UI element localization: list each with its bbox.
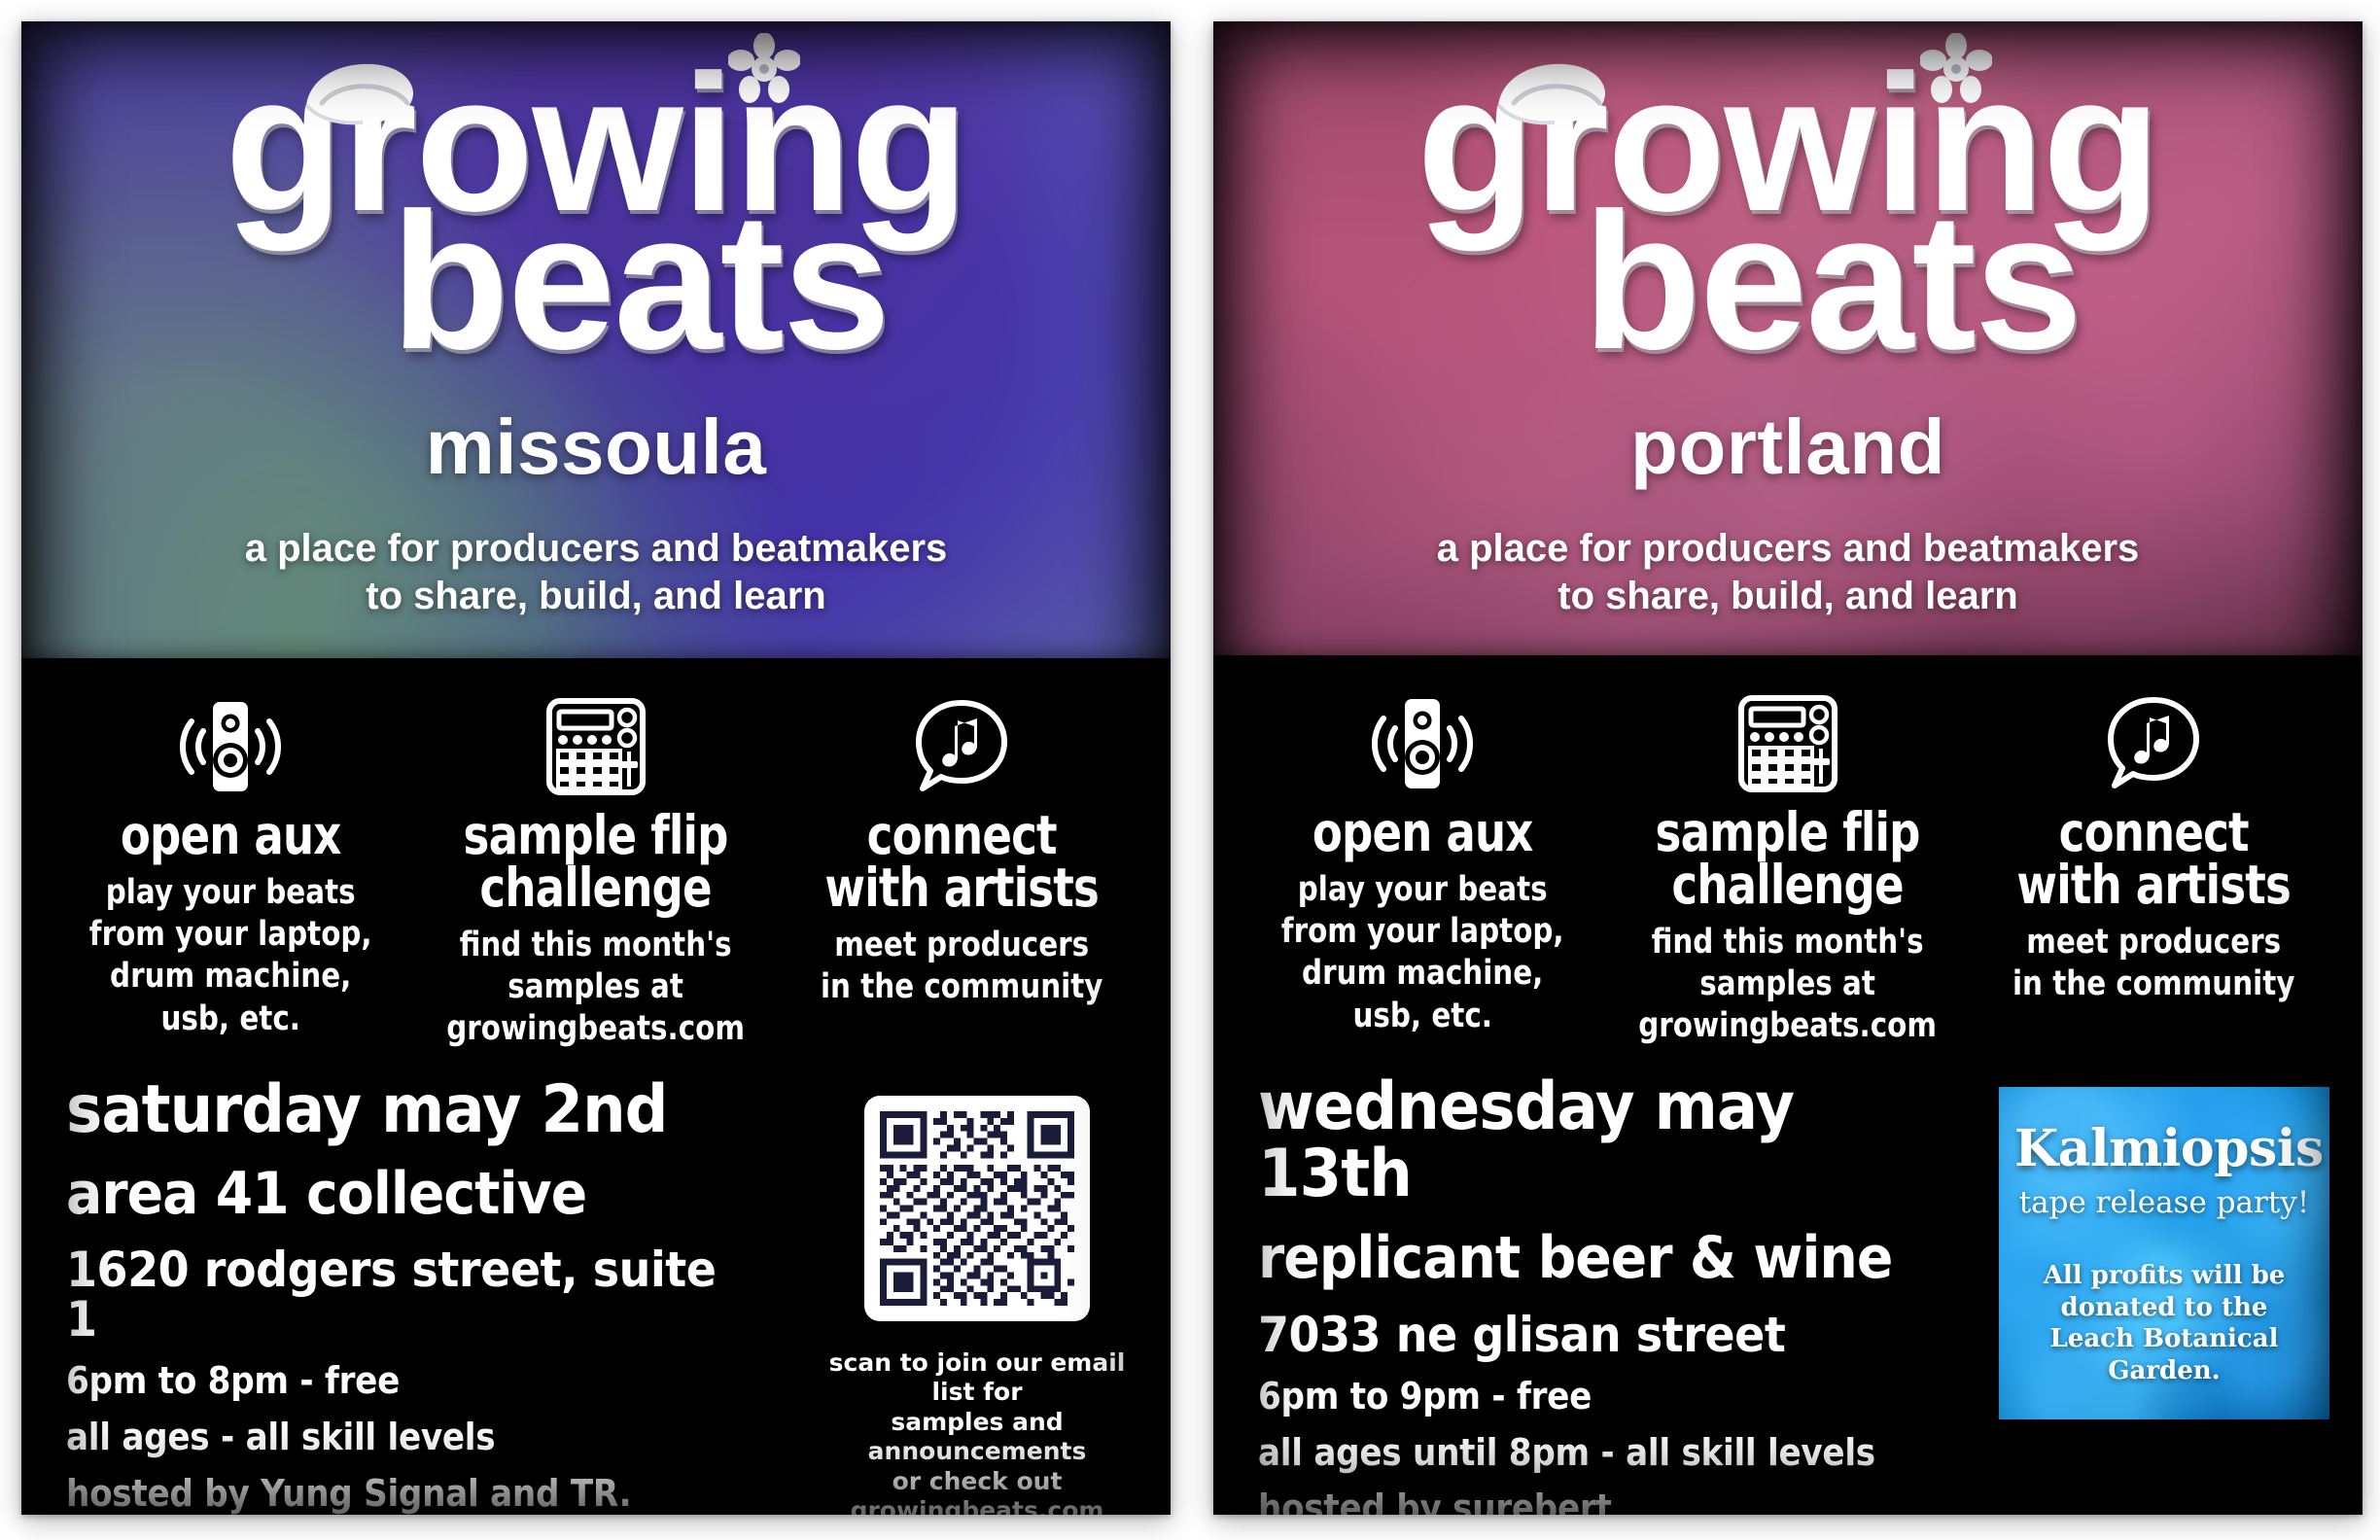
feature-sample-flip-challenge: sample flip challenge find this month's … xyxy=(1602,690,1973,1048)
speaker-sound-icon xyxy=(58,693,402,800)
feature-sample-flip-challenge: sample flip challenge find this month's … xyxy=(410,693,781,1051)
feature-sub-line: usb, etc. xyxy=(1277,996,1567,1037)
feature-open-aux: open aux play your beats from your lapto… xyxy=(1242,690,1602,1037)
poster-portland[interactable]: growing beats portland a place for produ… xyxy=(1213,21,2362,1515)
flyer-sheet: growing beats missoula a place for produ… xyxy=(0,0,2380,1540)
feature-sub-line: in the community xyxy=(817,966,1106,1008)
feature-sub-line: usb, etc. xyxy=(86,998,375,1040)
feature-subtext: meet producers in the community xyxy=(2009,922,2298,1006)
event-address: 7033 ne glisan street xyxy=(1258,1311,1940,1360)
event-time: 6pm to 9pm - free xyxy=(1258,1378,1925,1417)
tagline-line-2: to share, build, and learn xyxy=(245,573,948,620)
hero-portland: growing beats portland a place for produ… xyxy=(1213,21,2362,655)
feature-title-line: challenge xyxy=(450,862,741,915)
event-details-missoula: saturday may 2nd area 41 collective 1620… xyxy=(21,1037,1171,1515)
feature-title: connect with artists xyxy=(2012,807,2295,912)
qr-block[interactable]: scan to join our email list for samples … xyxy=(817,1096,1137,1515)
event-venue: area 41 collective xyxy=(66,1165,756,1224)
feature-title-line: sample flip xyxy=(450,810,741,862)
feature-title: open aux xyxy=(89,810,372,862)
tagline: a place for producers and beatmakers to … xyxy=(1437,525,2140,620)
promo-text: Kalmiopsis tape release party! All profi… xyxy=(1999,1087,2329,1387)
sprout-leaf-icon xyxy=(1492,60,1607,138)
feature-connect-with-artists: connect with artists meet producers in t… xyxy=(1974,690,2333,1006)
qr-caption-line: samples and announcements xyxy=(817,1408,1137,1467)
tagline-line-1: a place for producers and beatmakers xyxy=(245,525,948,573)
speech-bubble-music-note-icon xyxy=(789,693,1134,800)
tagline-line-2: to share, build, and learn xyxy=(1437,573,2140,620)
flower-asterisk-icon xyxy=(728,33,800,105)
logo-line-beats: beats xyxy=(1504,204,2159,360)
logo-line-beats: beats xyxy=(312,204,967,360)
speaker-sound-icon xyxy=(1250,690,1594,797)
kalmiopsis-promo-card[interactable]: Kalmiopsis tape release party! All profi… xyxy=(1999,1087,2329,1419)
feature-subtext: play your beats from your laptop, drum m… xyxy=(86,872,375,1041)
feature-sub-line: drum machine, xyxy=(86,956,375,997)
event-date: wednesday may 13th xyxy=(1258,1073,1940,1208)
promo-note-line: Leach Botanical Garden. xyxy=(2014,1323,2314,1387)
feature-sub-line: from your laptop, xyxy=(86,914,375,956)
feature-title: open aux xyxy=(1281,807,1564,859)
feature-title: sample flip challenge xyxy=(1642,807,1933,912)
feature-sub-line: play your beats xyxy=(86,872,375,914)
drum-machine-icon xyxy=(418,693,773,800)
feature-sub-line: find this month's xyxy=(1639,922,1938,963)
feature-title: connect with artists xyxy=(821,810,1103,915)
brand-logo-missoula: growing beats xyxy=(21,66,1171,360)
event-text-block: saturday may 2nd area 41 collective 1620… xyxy=(66,1076,817,1514)
event-host: hosted by Yung Signal and TR. xyxy=(66,1475,742,1514)
drum-machine-icon xyxy=(1610,690,1965,797)
feature-sub-line: growingbeats.com xyxy=(447,1008,746,1050)
event-time: 6pm to 8pm - free xyxy=(66,1362,742,1401)
hero-missoula: growing beats missoula a place for produ… xyxy=(21,21,1171,658)
qr-code-icon[interactable] xyxy=(864,1096,1090,1321)
event-date: saturday may 2nd xyxy=(66,1076,756,1143)
speech-bubble-music-note-icon xyxy=(1981,690,2326,797)
event-text-block: wednesday may 13th replicant beer & wine… xyxy=(1258,1073,1999,1515)
qr-caption-line: or check out growingbeats.com xyxy=(817,1467,1137,1515)
tagline: a place for producers and beatmakers to … xyxy=(245,525,948,620)
event-ages: all ages - all skill levels xyxy=(66,1418,742,1457)
poster-missoula[interactable]: growing beats missoula a place for produ… xyxy=(21,21,1171,1515)
feature-sub-line: meet producers xyxy=(817,925,1106,966)
feature-title-line: with artists xyxy=(2012,859,2295,912)
feature-subtext: meet producers in the community xyxy=(817,925,1106,1009)
qr-caption-line: scan to join our email list for xyxy=(817,1348,1137,1408)
promo-note-line: All profits will be xyxy=(2014,1260,2314,1292)
promo-title: Kalmiopsis xyxy=(2014,1124,2314,1174)
event-venue: replicant beer & wine xyxy=(1258,1229,1940,1288)
feature-title-line: connect xyxy=(821,810,1103,862)
feature-sub-line: growingbeats.com xyxy=(1639,1005,1938,1047)
city-name: missoula xyxy=(426,402,767,492)
feature-title-line: sample flip xyxy=(1642,807,1933,859)
feature-open-aux: open aux play your beats from your lapto… xyxy=(51,693,410,1040)
feature-title-line: connect xyxy=(2012,807,2295,859)
feature-title-line: challenge xyxy=(1642,859,1933,912)
promo-note: All profits will be donated to the Leach… xyxy=(2014,1260,2314,1387)
event-details-portland: wednesday may 13th replicant beer & wine… xyxy=(1213,1034,2362,1515)
feature-title: sample flip challenge xyxy=(450,810,741,915)
promo-subtitle: tape release party! xyxy=(2014,1186,2314,1219)
feature-subtext: find this month's samples at growingbeat… xyxy=(1639,922,1938,1048)
feature-subtext: find this month's samples at growingbeat… xyxy=(447,925,746,1051)
brand-logo-portland: growing beats xyxy=(1213,66,2362,360)
city-name: portland xyxy=(1630,402,1945,492)
tagline-line-1: a place for producers and beatmakers xyxy=(1437,525,2140,573)
feature-sub-line: play your beats xyxy=(1277,869,1567,911)
feature-subtext: play your beats from your laptop, drum m… xyxy=(1277,869,1567,1038)
feature-sub-line: meet producers xyxy=(2009,922,2298,963)
feature-sub-line: samples at xyxy=(447,966,746,1008)
flower-asterisk-icon xyxy=(1920,33,1992,105)
event-host: hosted by surebert xyxy=(1258,1489,1925,1515)
event-ages: all ages until 8pm - all skill levels xyxy=(1258,1434,1925,1473)
feature-band-portland: open aux play your beats from your lapto… xyxy=(1213,655,2362,1034)
feature-sub-line: drum machine, xyxy=(1277,953,1567,995)
feature-band-missoula: open aux play your beats from your lapto… xyxy=(21,658,1171,1037)
feature-sub-line: in the community xyxy=(2009,963,2298,1005)
feature-sub-line: from your laptop, xyxy=(1277,911,1567,953)
event-address: 1620 rodgers street, suite 1 xyxy=(66,1245,756,1345)
qr-caption: scan to join our email list for samples … xyxy=(817,1348,1137,1515)
feature-title-line: with artists xyxy=(821,862,1103,915)
promo-note-line: donated to the xyxy=(2014,1292,2314,1324)
sprout-leaf-icon xyxy=(300,60,415,138)
feature-sub-line: find this month's xyxy=(447,925,746,966)
feature-sub-line: samples at xyxy=(1639,963,1938,1005)
feature-connect-with-artists: connect with artists meet producers in t… xyxy=(782,693,1141,1009)
